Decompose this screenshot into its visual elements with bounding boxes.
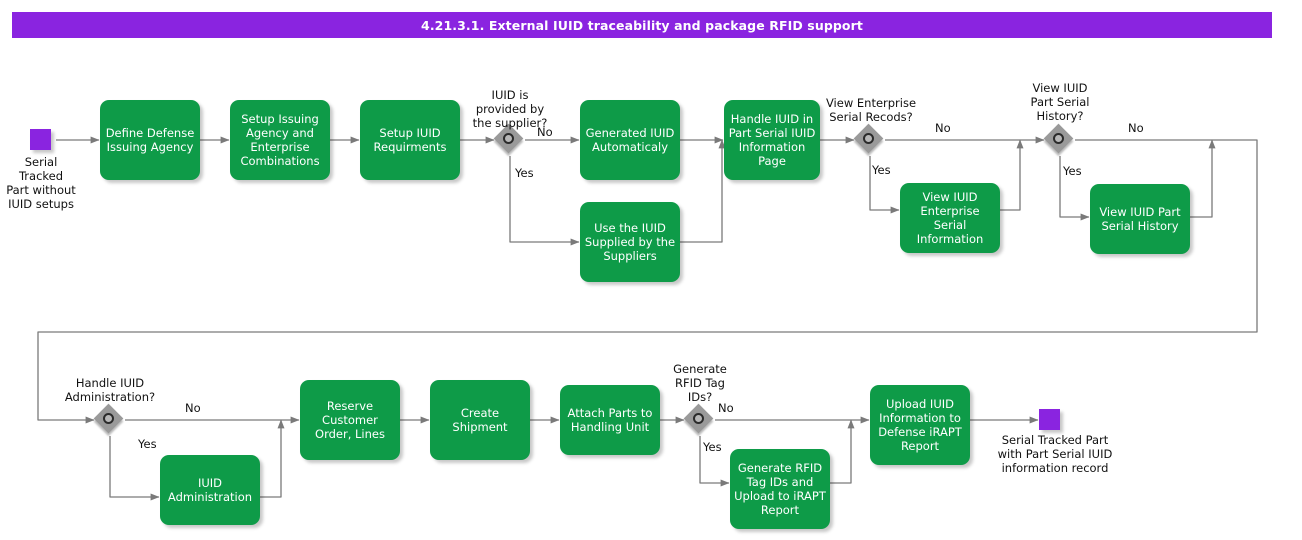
node-label: Upload IUID Information to Defense iRAPT… xyxy=(878,397,962,453)
decision-caption-iuid-provided-by-supplier: IUID is provided by the supplier? xyxy=(455,88,565,130)
edge-generate-rfid-return xyxy=(830,420,851,483)
decision-dot-icon xyxy=(863,133,874,144)
edge-label-no-1: No xyxy=(537,126,553,139)
end-terminal-caption: Serial Tracked Part with Part Serial IUI… xyxy=(965,433,1145,475)
node-label: Generate RFID Tag IDs and Upload to iRAP… xyxy=(734,461,826,517)
node-label: Reserve Customer Order, Lines xyxy=(315,399,385,441)
node-label: Use the IUID Supplied by the Suppliers xyxy=(585,221,675,263)
decision-dot-icon xyxy=(103,413,114,424)
node-view-iuid-part-serial-history[interactable]: View IUID Part Serial History xyxy=(1090,184,1190,254)
decision-caption-handle-iuid-administration: Handle IUID Administration? xyxy=(55,376,165,404)
decision-view-enterprise-serial-records[interactable] xyxy=(855,125,885,155)
node-setup-issuing-agency-and-enterprise-combinations[interactable]: Setup Issuing Agency and Enterprise Comb… xyxy=(230,100,330,180)
edge-label-no-5: No xyxy=(718,402,734,415)
node-label: View IUID Enterprise Serial Information xyxy=(904,190,996,246)
node-label: Generated IUID Automaticaly xyxy=(586,126,675,154)
node-generate-rfid-tag-ids-and-upload-to-irapt-report[interactable]: Generate RFID Tag IDs and Upload to iRAP… xyxy=(730,449,830,529)
node-label: View IUID Part Serial History xyxy=(1099,205,1180,233)
node-label: Setup Issuing Agency and Enterprise Comb… xyxy=(240,112,319,168)
decision-dot-icon xyxy=(693,413,704,424)
node-label: Setup IUID Requirments xyxy=(374,126,447,154)
node-label: Attach Parts to Handling Unit xyxy=(568,406,653,434)
edge-view-enterprise-to-decision3 xyxy=(1000,140,1020,210)
edge-iuid-admin-return xyxy=(260,420,281,497)
start-terminal-caption: Serial Tracked Part without IUID setups xyxy=(0,155,82,211)
page-title-bar: 4.21.3.1. External IUID traceability and… xyxy=(12,12,1272,38)
node-setup-iuid-requirments[interactable]: Setup IUID Requirments xyxy=(360,100,460,180)
node-generated-iuid-automaticaly[interactable]: Generated IUID Automaticaly xyxy=(580,100,680,180)
start-terminal xyxy=(30,129,51,150)
edge-use-supplied-to-handle xyxy=(680,140,722,242)
decision-caption-view-enterprise-serial-records: View Enterprise Serial Recods? xyxy=(815,96,927,124)
edge-label-yes-5: Yes xyxy=(703,441,722,454)
node-use-the-iuid-supplied-by-the-suppliers[interactable]: Use the IUID Supplied by the Suppliers xyxy=(580,202,680,282)
node-view-iuid-enterprise-serial-information[interactable]: View IUID Enterprise Serial Information xyxy=(900,183,1000,253)
node-label: IUID Administration xyxy=(168,476,252,504)
edge-label-no-3: No xyxy=(1128,122,1144,135)
node-upload-iuid-information-to-defense-irapt-report[interactable]: Upload IUID Information to Defense iRAPT… xyxy=(870,385,970,465)
edge-label-yes-2: Yes xyxy=(872,164,891,177)
node-label: Handle IUID in Part Serial IUID Informat… xyxy=(729,112,816,168)
node-iuid-administration[interactable]: IUID Administration xyxy=(160,455,260,525)
edge-label-yes-1: Yes xyxy=(515,167,534,180)
node-attach-parts-to-handling-unit[interactable]: Attach Parts to Handling Unit xyxy=(560,385,660,455)
diagram-canvas: 4.21.3.1. External IUID traceability and… xyxy=(0,0,1302,540)
edge-label-no-4: No xyxy=(185,402,201,415)
decision-generate-rfid-tag-ids[interactable] xyxy=(685,405,715,435)
decision-caption-view-iuid-part-serial-history: View IUID Part Serial History? xyxy=(1007,81,1113,123)
node-handle-iuid-in-part-serial-iuid-information-page[interactable]: Handle IUID in Part Serial IUID Informat… xyxy=(724,100,820,180)
node-create-shipment[interactable]: Create Shipment xyxy=(430,380,530,460)
node-label: Create Shipment xyxy=(452,406,507,434)
node-label: Define Defense Issuing Agency xyxy=(106,126,195,154)
node-reserve-customer-order-lines[interactable]: Reserve Customer Order, Lines xyxy=(300,380,400,460)
edge-label-yes-3: Yes xyxy=(1063,165,1082,178)
edge-label-no-2: No xyxy=(935,122,951,135)
node-define-defense-issuing-agency[interactable]: Define Defense Issuing Agency xyxy=(100,100,200,180)
decision-caption-generate-rfid-tag-ids: Generate RFID Tag IDs? xyxy=(655,362,745,404)
edge-label-yes-4: Yes xyxy=(138,438,157,451)
decision-view-iuid-part-serial-history[interactable] xyxy=(1045,125,1075,155)
page-title: 4.21.3.1. External IUID traceability and… xyxy=(421,18,863,33)
decision-dot-icon xyxy=(503,133,514,144)
decision-dot-icon xyxy=(1053,133,1064,144)
decision-handle-iuid-administration[interactable] xyxy=(95,405,125,435)
edge-view-history-return xyxy=(1190,140,1212,217)
end-terminal xyxy=(1039,409,1060,430)
